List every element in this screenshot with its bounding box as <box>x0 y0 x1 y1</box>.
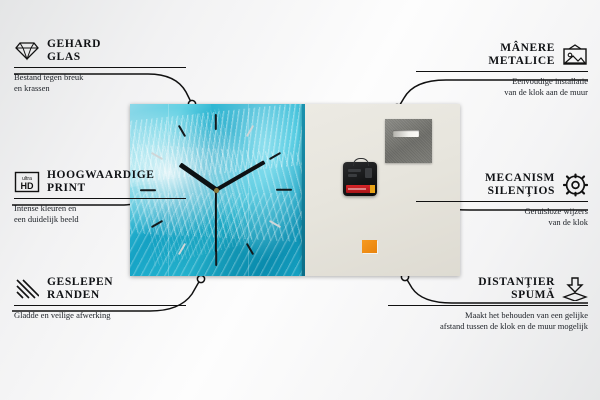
clock-tick-3 <box>276 189 292 191</box>
feature-header: GESLEPENRANDEN <box>14 276 186 302</box>
feature-rule <box>416 71 588 72</box>
feature-header: MECANISMSILENŢIOS <box>416 172 588 198</box>
mechanism-detail-1 <box>348 169 361 172</box>
feature-mecanism-silentios[interactable]: MECANISMSILENŢIOS Geruisloze wijzersvan … <box>416 172 588 228</box>
svg-text:HD: HD <box>21 181 34 191</box>
feature-header: ultra HD HOOGWAARDIGEPRINT <box>14 169 186 195</box>
clock-tick-6 <box>215 250 217 266</box>
feature-title: HOOGWAARDIGEPRINT <box>47 169 155 195</box>
feature-description: Bestand tegen breuken krassen <box>14 72 186 94</box>
clock-center-hub <box>214 188 219 193</box>
feature-geslepen-randen[interactable]: GESLEPENRANDEN Gladde en veilige afwerki… <box>14 276 186 321</box>
spacer-arrow-icon <box>562 277 588 301</box>
feature-description: Maakt het behouden van een gelijkeafstan… <box>388 310 588 332</box>
beveled-edges-icon <box>14 277 40 301</box>
feature-distantier-spuma[interactable]: DISTANŢIERSPUMĂ Maakt het behouden van e… <box>388 276 588 332</box>
connector-dot-geslepen-randen <box>197 275 204 282</box>
feature-rule <box>416 201 588 202</box>
feature-title: GESLEPENRANDEN <box>47 276 113 302</box>
foam-spacer <box>362 240 377 253</box>
feature-gehard-glas[interactable]: GEHARDGLAS Bestand tegen breuken krassen <box>14 38 186 94</box>
mechanism-bail <box>353 158 369 166</box>
feature-title: MÂNEREMETALICE <box>488 42 555 68</box>
quartz-mechanism <box>343 162 377 196</box>
mechanism-detail-3 <box>365 168 372 178</box>
infographic-canvas: GEHARDGLAS Bestand tegen breuken krassen… <box>0 0 600 400</box>
battery-stripe <box>348 188 366 190</box>
glass-edge-strip <box>302 104 305 276</box>
clock-tick-2 <box>269 152 281 160</box>
feature-description: Gladde en veilige afwerking <box>14 310 186 321</box>
feature-manere-metalice[interactable]: MÂNEREMETALICE Eenvoudige installatievan… <box>416 42 588 98</box>
hanger-slot <box>393 130 419 137</box>
metal-hanger <box>385 119 432 163</box>
minute-hand <box>215 160 265 191</box>
feature-title: DISTANŢIERSPUMĂ <box>478 276 555 302</box>
feature-description: Intense kleuren eneen duidelijk beeld <box>14 203 186 225</box>
gear-icon <box>562 173 588 197</box>
picture-frame-icon <box>562 43 588 67</box>
diamond-icon <box>14 39 40 63</box>
feature-header: MÂNEREMETALICE <box>416 42 588 68</box>
feature-title: MECANISMSILENŢIOS <box>485 172 555 198</box>
clock-tick-7 <box>178 243 186 255</box>
clock-tick-0 <box>215 114 217 130</box>
feature-rule <box>14 305 186 306</box>
feature-description: Eenvoudige installatievan de klok aan de… <box>416 76 588 98</box>
second-hand <box>215 190 217 252</box>
feature-description: Geruisloze wijzersvan de klok <box>416 206 588 228</box>
feature-title: GEHARDGLAS <box>47 38 101 64</box>
feature-rule <box>14 198 186 199</box>
feature-hoogwaardige-print[interactable]: ultra HD HOOGWAARDIGEPRINT Intense kleur… <box>14 169 186 225</box>
ultra-hd-icon: ultra HD <box>14 170 40 194</box>
feature-rule <box>388 305 588 306</box>
feature-rule <box>14 67 186 68</box>
feature-header: DISTANŢIERSPUMĂ <box>388 276 588 302</box>
battery-positive-terminal <box>370 185 375 193</box>
aa-battery <box>346 185 374 193</box>
clock-tick-4 <box>269 220 281 228</box>
feature-header: GEHARDGLAS <box>14 38 186 64</box>
mechanism-detail-2 <box>348 174 357 177</box>
